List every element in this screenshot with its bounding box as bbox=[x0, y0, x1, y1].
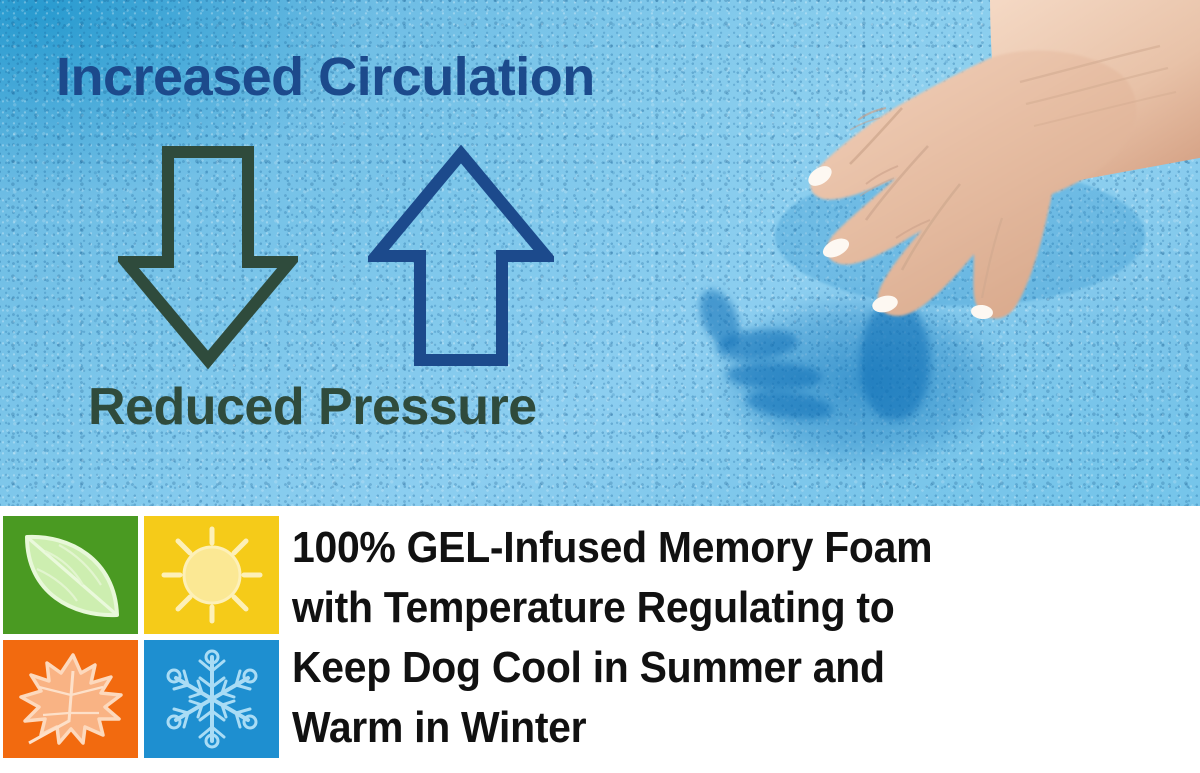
season-tile-autumn bbox=[3, 640, 138, 758]
caption-line-4: Warm in Winter bbox=[292, 698, 1134, 758]
heading-increased-circulation: Increased Circulation bbox=[56, 50, 595, 104]
caption-line-2: with Temperature Regulating to bbox=[292, 578, 1134, 638]
arrow-down-icon bbox=[118, 144, 298, 375]
product-feature-graphic: Increased Circulation Reduced Pressure bbox=[0, 0, 1200, 773]
season-tile-summer bbox=[144, 516, 279, 634]
snowflake-icon bbox=[158, 647, 266, 751]
caption-headline: 100% GEL-Infused Memory Foam with Temper… bbox=[292, 518, 1134, 758]
leaf-icon bbox=[11, 523, 131, 627]
sun-icon bbox=[156, 523, 268, 627]
season-tile-spring bbox=[3, 516, 138, 634]
season-icon-grid bbox=[3, 516, 279, 761]
caption-band: 100% GEL-Infused Memory Foam with Temper… bbox=[0, 506, 1200, 773]
foam-photo-panel: Increased Circulation Reduced Pressure bbox=[0, 0, 1200, 506]
season-tile-winter bbox=[144, 640, 279, 758]
caption-line-1: 100% GEL-Infused Memory Foam bbox=[292, 518, 1134, 578]
maple-leaf-icon bbox=[13, 647, 129, 751]
caption-line-3: Keep Dog Cool in Summer and bbox=[292, 638, 1134, 698]
arrow-up-icon bbox=[368, 144, 554, 375]
hand-photo bbox=[690, 0, 1200, 386]
heading-reduced-pressure: Reduced Pressure bbox=[88, 381, 537, 433]
